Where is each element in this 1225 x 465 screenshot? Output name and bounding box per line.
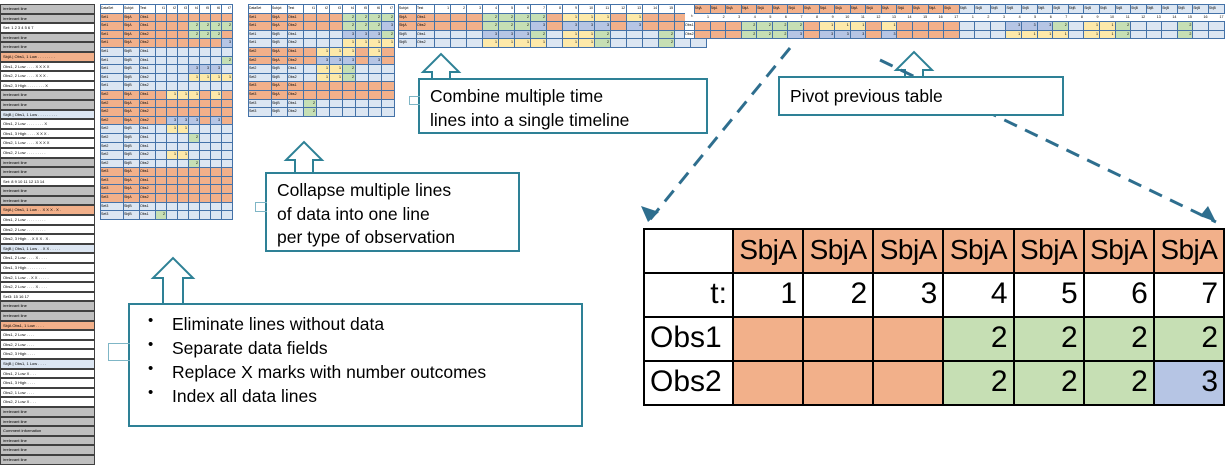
indexed-table-value-cell bbox=[211, 194, 222, 203]
indexed-table-value-cell bbox=[211, 142, 222, 151]
indexed-table-value-cell bbox=[178, 99, 189, 108]
raw-line-row: irrelevant line bbox=[0, 186, 95, 196]
timeline-table-header-cell: 2 bbox=[451, 5, 467, 14]
pivot-value-cell: 1 bbox=[1099, 30, 1115, 39]
big-t-label: t: bbox=[644, 273, 733, 317]
big-value-cell: 2 bbox=[943, 361, 1013, 405]
pivot-t-cell: 10 bbox=[835, 13, 851, 22]
collapsed-table-label-cell: Obs1 bbox=[288, 65, 304, 74]
indexed-table-label-cell: Obs2 bbox=[140, 39, 156, 48]
collapsed-table-value-cell bbox=[317, 13, 330, 22]
cleanup-bullet-item: Index all data lines bbox=[136, 384, 575, 408]
pivot-data-row: Obs22223333311111122 bbox=[685, 30, 1225, 39]
collapsed-table-value-cell bbox=[304, 47, 317, 56]
indexed-table-value-cell bbox=[178, 133, 189, 142]
timeline-table-header-cell: 10 bbox=[579, 5, 595, 14]
raw-line-row: Obs2, 2 Low . . . . bbox=[0, 340, 95, 350]
pivot-t-cell: 2 bbox=[975, 13, 991, 22]
timeline-table-label-cell: Obs2 bbox=[417, 22, 435, 31]
big-subject-header: SbjA bbox=[1154, 229, 1224, 273]
pivot-t-row: t:12345678910111213141516171234567891011… bbox=[685, 13, 1225, 22]
raw-line-row: Obs1, 2 Low . . . . X . . . . bbox=[0, 253, 95, 263]
pivot-t-cell: 7 bbox=[1053, 13, 1069, 22]
indexed-table-value-cell bbox=[222, 159, 233, 168]
collapsed-table-value-cell: 3 bbox=[382, 22, 395, 31]
timeline-table-value-cell: 3 bbox=[531, 22, 547, 31]
timeline-table-label-cell: SbjA bbox=[399, 22, 417, 31]
indexed-table-value-cell bbox=[222, 125, 233, 134]
indexed-table-label-cell: Obs2 bbox=[140, 30, 156, 39]
timeline-table-row: SbjBObs211111122 bbox=[399, 39, 707, 48]
collapsed-table-value-cell bbox=[330, 30, 343, 39]
timeline-table-value-cell: 2 bbox=[531, 13, 547, 22]
indexed-table-value-cell: 1 bbox=[167, 125, 178, 134]
raw-text-lines-table: irrelevant lineirrelevant lineSet: 1 2 3… bbox=[0, 4, 95, 465]
timeline-table-value-cell bbox=[643, 39, 659, 48]
indexed-table-value-cell bbox=[200, 47, 211, 56]
big-t-value: 1 bbox=[733, 273, 803, 317]
pivot-value-cell bbox=[913, 30, 929, 39]
timeline-table-value-cell: 2 bbox=[531, 30, 547, 39]
indexed-table-value-cell bbox=[178, 185, 189, 194]
collapsed-table-label-cell: Set1 bbox=[249, 22, 272, 31]
indexed-table-value-cell bbox=[222, 142, 233, 151]
collapsed-table-value-cell: 3 bbox=[369, 56, 382, 65]
pivot-value-cell bbox=[928, 22, 944, 31]
raw-line-row: irrelevant line bbox=[0, 4, 95, 14]
indexed-table-value-cell bbox=[156, 30, 167, 39]
raw-line-row: Obs2, 1 Low . . . . X X X X bbox=[0, 138, 95, 148]
raw-line-row: irrelevant line bbox=[0, 436, 95, 446]
timeline-table-label-cell: SbjA bbox=[399, 13, 417, 22]
raw-line-row: Obs2, 2 Low X . . . bbox=[0, 397, 95, 407]
indexed-table-value-cell bbox=[222, 47, 233, 56]
pivot-subject-cell: SbjB bbox=[1209, 5, 1225, 14]
pivot-t-cell: 14 bbox=[897, 13, 913, 22]
pivot-value-cell bbox=[913, 22, 929, 31]
pivot-value-cell: 2 bbox=[1177, 30, 1193, 39]
pivot-t-cell: 11 bbox=[850, 13, 866, 22]
pivot-subject-cell: SbjB bbox=[1084, 5, 1100, 14]
pivoted-table: SbjASbjASbjASbjASbjASbjASbjASbjASbjASbjA… bbox=[684, 4, 1225, 39]
pivot-value-cell: 3 bbox=[1022, 22, 1038, 31]
indexed-table-row: Set3SbjBObs1 bbox=[101, 202, 233, 211]
big-t-value: 7 bbox=[1154, 273, 1224, 317]
indexed-table-row: Set2SbjAObs23333 bbox=[101, 116, 233, 125]
timeline-table-header-cell: 13 bbox=[627, 5, 643, 14]
collapsed-table-value-cell: 2 bbox=[356, 22, 369, 31]
indexed-table-value-cell bbox=[200, 133, 211, 142]
indexed-table-value-cell bbox=[178, 73, 189, 82]
indexed-table-row: Set2SbjBObs111 bbox=[101, 125, 233, 134]
callout-combine: Combine multiple time lines into a singl… bbox=[418, 78, 708, 134]
indexed-table-value-cell bbox=[200, 176, 211, 185]
collapsed-table-row: Set2SbjBObs2112 bbox=[249, 73, 395, 82]
pivot-value-cell: 2 bbox=[757, 22, 773, 31]
big-value-cell: 2 bbox=[1014, 317, 1084, 361]
indexed-table-header-cell: t3 bbox=[178, 5, 189, 14]
pivot-value-cell: 2 bbox=[1115, 30, 1131, 39]
collapsed-table-value-cell: 2 bbox=[343, 73, 356, 82]
collapsed-table-value-cell bbox=[369, 108, 382, 117]
indexed-table-row: Set2SbjBObs211 bbox=[101, 151, 233, 160]
pivot-subject-cell: SbjA bbox=[850, 5, 866, 14]
collapsed-table-value-cell bbox=[343, 90, 356, 99]
raw-line-row: Obs2, 2 Low . . . . . . . . . bbox=[0, 148, 95, 158]
indexed-table-value-cell bbox=[222, 151, 233, 160]
indexed-table-value-cell bbox=[167, 185, 178, 194]
zoom-arrowhead-right bbox=[1200, 206, 1216, 222]
collapsed-table-value-cell bbox=[304, 22, 317, 31]
pivot-value-cell: 2 bbox=[1115, 22, 1131, 31]
raw-line-row: Obs1, 3 High . . . . . . . . . bbox=[0, 263, 95, 273]
pivot-value-cell bbox=[990, 22, 1006, 31]
pivot-value-cell: 1 bbox=[1053, 30, 1069, 39]
raw-line-row: Set: 8 9 10 11 12 13 14 bbox=[0, 177, 95, 187]
pivot-subject-cell: SbjA bbox=[866, 5, 882, 14]
timeline-table-value-cell bbox=[627, 39, 643, 48]
timeline-table-value-cell bbox=[467, 13, 483, 22]
raw-line-row: SbjB | Obs1, 1 Low . . X X . . . . . bbox=[0, 244, 95, 254]
indexed-table-label-cell: Obs1 bbox=[140, 22, 156, 31]
collapsed-table-value-cell: 1 bbox=[343, 47, 356, 56]
indexed-table-value-cell bbox=[167, 73, 178, 82]
collapsed-table-value-cell: 1 bbox=[356, 39, 369, 48]
indexed-table-label-cell: Obs1 bbox=[140, 168, 156, 177]
collapsed-table-value-cell bbox=[330, 82, 343, 91]
timeline-table-header-cell: 14 bbox=[643, 5, 659, 14]
pivot-value-cell: 2 bbox=[772, 22, 788, 31]
indexed-table-value-cell bbox=[156, 73, 167, 82]
indexed-table-value-cell bbox=[167, 30, 178, 39]
timeline-table-value-cell: 2 bbox=[595, 30, 611, 39]
collapsed-table-value-cell: 1 bbox=[317, 47, 330, 56]
collapsed-table-value-cell bbox=[343, 99, 356, 108]
raw-line-row: irrelevant line bbox=[0, 311, 95, 321]
pivot-subject-cell: SbjA bbox=[757, 5, 773, 14]
indexed-table-value-cell bbox=[156, 65, 167, 74]
pivot-subject-cell: SbjB bbox=[990, 5, 1006, 14]
timeline-table-header-cell: Test bbox=[417, 5, 435, 14]
pivot-value-cell bbox=[803, 30, 819, 39]
indexed-table-value-cell bbox=[167, 176, 178, 185]
indexed-table-value-cell bbox=[211, 202, 222, 211]
indexed-table-value-cell bbox=[189, 39, 200, 48]
raw-line-row: Obs1, 2 Low . . . . . . . . X bbox=[0, 119, 95, 129]
collapsed-table-label-cell: SbjA bbox=[272, 90, 288, 99]
collapsed-table-label-cell: Set2 bbox=[249, 56, 272, 65]
big-value-cell bbox=[733, 361, 803, 405]
indexed-table-label-cell: Set3 bbox=[101, 211, 124, 220]
collapsed-table-header-cell: Subjct bbox=[272, 5, 288, 14]
callout-collapse-line2: of data into one line bbox=[277, 203, 508, 227]
indexed-table-value-cell bbox=[211, 99, 222, 108]
big-row-label: Obs1 bbox=[644, 317, 733, 361]
raw-line-row: Obs2, 2 Low . . . . X . . . . bbox=[0, 282, 95, 292]
collapsed-table-label-cell: Obs1 bbox=[288, 47, 304, 56]
collapsed-table-value-cell: 2 bbox=[369, 22, 382, 31]
collapsed-table-value-cell: 2 bbox=[382, 13, 395, 22]
pivot-value-cell: 1 bbox=[881, 22, 897, 31]
pivot-t-label: t: bbox=[685, 13, 695, 22]
collapsed-table-label-cell: Set3 bbox=[249, 99, 272, 108]
timeline-table-value-cell: 3 bbox=[515, 30, 531, 39]
collapsed-table-value-cell bbox=[304, 39, 317, 48]
pivot-subject-cell: SbjA bbox=[928, 5, 944, 14]
indexed-table-value-cell bbox=[178, 13, 189, 22]
indexed-table-label-cell: SbjB bbox=[124, 56, 140, 65]
timeline-table-value-cell bbox=[547, 30, 563, 39]
raw-line-row: Set3: 15 16 17 bbox=[0, 292, 95, 302]
indexed-table-value-cell bbox=[178, 202, 189, 211]
indexed-table-label-cell: Obs1 bbox=[140, 125, 156, 134]
pivot-value-cell bbox=[866, 22, 882, 31]
pivot-value-cell bbox=[1209, 30, 1225, 39]
timeline-table-value-cell bbox=[659, 13, 675, 22]
indexed-table-value-cell bbox=[200, 125, 211, 134]
pivot-subject-cell: SbjB bbox=[1053, 5, 1069, 14]
indexed-table-row: Set2SbjBObs1 bbox=[101, 142, 233, 151]
pivot-value-cell bbox=[944, 22, 960, 31]
collapsed-table-value-cell: 2 bbox=[304, 108, 317, 117]
pivot-value-cell bbox=[1131, 30, 1147, 39]
raw-line-row: Obs1, 3 High . . . . X X X . bbox=[0, 129, 95, 139]
pivot-value-cell bbox=[897, 30, 913, 39]
raw-line-row: Obs1, 3 High . . . . bbox=[0, 378, 95, 388]
pivot-row-label: Obs2 bbox=[685, 30, 695, 39]
raw-line-row: Obs1, 2 Low X . . . bbox=[0, 369, 95, 379]
indexed-table-value-cell bbox=[156, 22, 167, 31]
collapsed-table-value-cell: 1 bbox=[369, 39, 382, 48]
collapsed-table-value-cell bbox=[317, 99, 330, 108]
timeline-table-label-cell: Obs2 bbox=[417, 39, 435, 48]
pivot-subject-cell: SbjA bbox=[819, 5, 835, 14]
indexed-table-label-cell: SbjB bbox=[124, 47, 140, 56]
collapsed-table-label-cell: SbjA bbox=[272, 13, 288, 22]
timeline-table-row: SbjAObs122221111 bbox=[399, 13, 707, 22]
collapsed-table-label-cell: Set3 bbox=[249, 90, 272, 99]
collapsed-table-label-cell: SbjB bbox=[272, 99, 288, 108]
collapsed-table-value-cell bbox=[304, 82, 317, 91]
pivot-value-cell: 2 bbox=[741, 22, 757, 31]
indexed-table-value-cell: 2 bbox=[200, 22, 211, 31]
timeline-table-header-cell: 9 bbox=[563, 5, 579, 14]
pivot-value-cell: 2 bbox=[757, 30, 773, 39]
big-t-value: 6 bbox=[1084, 273, 1154, 317]
indexed-table-label-cell: Obs1 bbox=[140, 99, 156, 108]
collapsed-table-row: Set2SbjAObs11111 bbox=[249, 47, 395, 56]
indexed-table-row: Set3SbjAObs2 bbox=[101, 194, 233, 203]
collapsed-table-label-cell: Obs2 bbox=[288, 56, 304, 65]
raw-line-row: Obs1, 2 Low . . . . X X X X bbox=[0, 62, 95, 72]
big-t-value: 2 bbox=[803, 273, 873, 317]
indexed-table-value-cell bbox=[211, 185, 222, 194]
raw-line-row: Obs2, 1 Low . . . . bbox=[0, 388, 95, 398]
indexed-table-label-cell: SbjB bbox=[124, 159, 140, 168]
pivot-value-cell: 2 bbox=[1053, 22, 1069, 31]
indexed-table-value-cell bbox=[222, 99, 233, 108]
callout-stub bbox=[108, 343, 130, 361]
collapsed-table-value-cell bbox=[343, 82, 356, 91]
timeline-table-value-cell: 2 bbox=[659, 30, 675, 39]
raw-line-row: SbjA | Obs1, 1 Low . . . . . . . . bbox=[0, 52, 95, 62]
indexed-table-label-cell: Set1 bbox=[101, 82, 124, 91]
pivot-value-cell bbox=[866, 30, 882, 39]
pivot-value-cell: 1 bbox=[1084, 30, 1100, 39]
indexed-table-row: Set1SbjAObs12222 bbox=[101, 22, 233, 31]
callout-stub bbox=[255, 202, 267, 212]
indexed-table-label-cell: Obs2 bbox=[140, 159, 156, 168]
pivot-value-cell bbox=[710, 22, 726, 31]
cleanup-bullet-item: Separate data fields bbox=[136, 336, 575, 360]
collapsed-table-row: Set2SbjAObs23333 bbox=[249, 56, 395, 65]
collapsed-table-row: Set3SbjAObs1 bbox=[249, 82, 395, 91]
indexed-table-value-cell bbox=[211, 125, 222, 134]
cleanup-bullet-item: Eliminate lines without data bbox=[136, 312, 575, 336]
timeline-table-value-cell: 1 bbox=[499, 39, 515, 48]
pivot-subject-cell: SbjB bbox=[959, 5, 975, 14]
indexed-table-row: Set3SbjBObs12 bbox=[101, 211, 233, 220]
collapsed-table-value-cell: 1 bbox=[343, 39, 356, 48]
indexed-table-label-cell: SbjB bbox=[124, 125, 140, 134]
timeline-table-value-cell bbox=[691, 39, 707, 48]
indexed-table-row: Set2SbjAObs11111 bbox=[101, 90, 233, 99]
pivot-value-cell: 1 bbox=[1084, 22, 1100, 31]
raw-line-row: Obs2, 3 High . . X X X . X . bbox=[0, 234, 95, 244]
collapsed-table-value-cell bbox=[382, 108, 395, 117]
indexed-table-value-cell bbox=[156, 159, 167, 168]
indexed-table-value-cell bbox=[167, 168, 178, 177]
indexed-table-value-cell: 3 bbox=[200, 65, 211, 74]
indexed-table-value-cell bbox=[222, 90, 233, 99]
raw-line-row: irrelevant line bbox=[0, 445, 95, 455]
pivot-subject-cell: SbjB bbox=[1037, 5, 1053, 14]
indexed-table-value-cell: 1 bbox=[211, 73, 222, 82]
indexed-table-value-cell bbox=[156, 47, 167, 56]
indexed-table-value-cell bbox=[167, 159, 178, 168]
indexed-table-label-cell: Set1 bbox=[101, 73, 124, 82]
indexed-table-value-cell: 3 bbox=[189, 65, 200, 74]
collapsed-table-value-cell bbox=[304, 65, 317, 74]
collapsed-table-value-cell: 2 bbox=[382, 30, 395, 39]
indexed-table-value-cell bbox=[178, 30, 189, 39]
indexed-table-header-cell: t4 bbox=[189, 5, 200, 14]
indexed-table-label-cell: SbjA bbox=[124, 90, 140, 99]
timeline-table-value-cell: 2 bbox=[499, 13, 515, 22]
pivot-subject-cell: SbjB bbox=[1115, 5, 1131, 14]
indexed-table-value-cell bbox=[200, 99, 211, 108]
collapsed-table-label-cell: SbjA bbox=[272, 82, 288, 91]
pivot-value-cell: 1 bbox=[1099, 22, 1115, 31]
pivot-value-cell bbox=[726, 22, 742, 31]
indexed-table-value-cell bbox=[156, 39, 167, 48]
collapsed-table-label-cell: Obs1 bbox=[288, 82, 304, 91]
collapsed-table-value-cell bbox=[356, 108, 369, 117]
collapsed-table-label-cell: Set1 bbox=[249, 39, 272, 48]
indexed-table-label-cell: Set2 bbox=[101, 90, 124, 99]
indexed-table-value-cell bbox=[189, 99, 200, 108]
pivot-t-cell: 9 bbox=[819, 13, 835, 22]
indexed-table-label-cell: SbjA bbox=[124, 22, 140, 31]
indexed-table-value-cell bbox=[156, 151, 167, 160]
indexed-table-value-cell bbox=[211, 108, 222, 117]
pivot-t-cell: 14 bbox=[1162, 13, 1178, 22]
indexed-table-label-cell: Obs1 bbox=[140, 13, 156, 22]
indexed-table-row: Set2SbjAObs1 bbox=[101, 99, 233, 108]
collapsed-table-label-cell: Set3 bbox=[249, 108, 272, 117]
indexed-table-label-cell: Set3 bbox=[101, 168, 124, 177]
indexed-table-value-cell bbox=[200, 185, 211, 194]
indexed-table-value-cell bbox=[189, 142, 200, 151]
pivot-value-cell bbox=[959, 30, 975, 39]
pivot-value-cell: 1 bbox=[1037, 30, 1053, 39]
pivot-value-cell bbox=[1068, 22, 1084, 31]
indexed-table-value-cell bbox=[156, 56, 167, 65]
timeline-table-value-cell bbox=[547, 22, 563, 31]
indexed-table-value-cell bbox=[156, 168, 167, 177]
indexed-table-value-cell: 3 bbox=[211, 65, 222, 74]
raw-line-row: Obs2, 3 High . . . . . . . . X bbox=[0, 81, 95, 91]
indexed-table-value-cell bbox=[167, 39, 178, 48]
indexed-table-row: Set1SbjBObs1 bbox=[101, 47, 233, 56]
pivot-value-cell bbox=[1162, 30, 1178, 39]
indexed-table-value-cell bbox=[200, 39, 211, 48]
pivot-t-cell: 8 bbox=[803, 13, 819, 22]
timeline-table-value-cell: 3 bbox=[595, 22, 611, 31]
indexed-table-label-cell: SbjB bbox=[124, 151, 140, 160]
indexed-table-value-cell bbox=[178, 47, 189, 56]
big-t-row: t:1234567 bbox=[644, 273, 1224, 317]
indexed-table-row: Set3SbjAObs2 bbox=[101, 185, 233, 194]
collapsed-table-label-cell: Set2 bbox=[249, 73, 272, 82]
pivot-value-cell: 3 bbox=[881, 30, 897, 39]
callout-collapse-line3: per type of observation bbox=[277, 226, 508, 250]
timeline-table-label-cell: SbjB bbox=[399, 30, 417, 39]
pivot-t-cell: 16 bbox=[928, 13, 944, 22]
pivot-t-cell: 11 bbox=[1115, 13, 1131, 22]
timeline-table-value-cell: 3 bbox=[499, 30, 515, 39]
collapsed-table-value-cell: 2 bbox=[304, 99, 317, 108]
collapsed-table-value-cell: 3 bbox=[369, 30, 382, 39]
pivot-value-cell: 2 bbox=[788, 22, 804, 31]
indexed-table-value-cell bbox=[222, 185, 233, 194]
collapsed-table-value-cell: 2 bbox=[343, 22, 356, 31]
indexed-table-label-cell: Obs1 bbox=[140, 65, 156, 74]
indexed-table-row: Set2SbjBObs22 bbox=[101, 159, 233, 168]
collapsed-table-header-cell: t5 bbox=[356, 5, 369, 14]
indexed-table-value-cell bbox=[167, 133, 178, 142]
timeline-table-value-cell bbox=[451, 13, 467, 22]
collapsed-table-value-cell bbox=[356, 90, 369, 99]
timeline-table-value-cell: 1 bbox=[627, 13, 643, 22]
collapsed-table-header-cell: t1 bbox=[304, 5, 317, 14]
indexed-table-value-cell bbox=[211, 39, 222, 48]
indexed-table-value-cell bbox=[178, 108, 189, 117]
indexed-table-label-cell: Set2 bbox=[101, 133, 124, 142]
raw-line-row: irrelevant line bbox=[0, 90, 95, 100]
collapsed-table-label-cell: SbjA bbox=[272, 47, 288, 56]
collapsed-table-value-cell bbox=[356, 47, 369, 56]
big-value-cell: 2 bbox=[1154, 317, 1224, 361]
collapsed-table-label-cell: Obs2 bbox=[288, 90, 304, 99]
indexed-table-value-cell bbox=[178, 65, 189, 74]
indexed-table-header-cell: Subjct bbox=[124, 5, 140, 14]
indexed-table-value-cell bbox=[200, 202, 211, 211]
collapsed-table-label-cell: SbjB bbox=[272, 39, 288, 48]
indexed-table-value-cell bbox=[200, 211, 211, 220]
timeline-table-header-cell: 6 bbox=[515, 5, 531, 14]
collapsed-table-label-cell: Obs2 bbox=[288, 39, 304, 48]
